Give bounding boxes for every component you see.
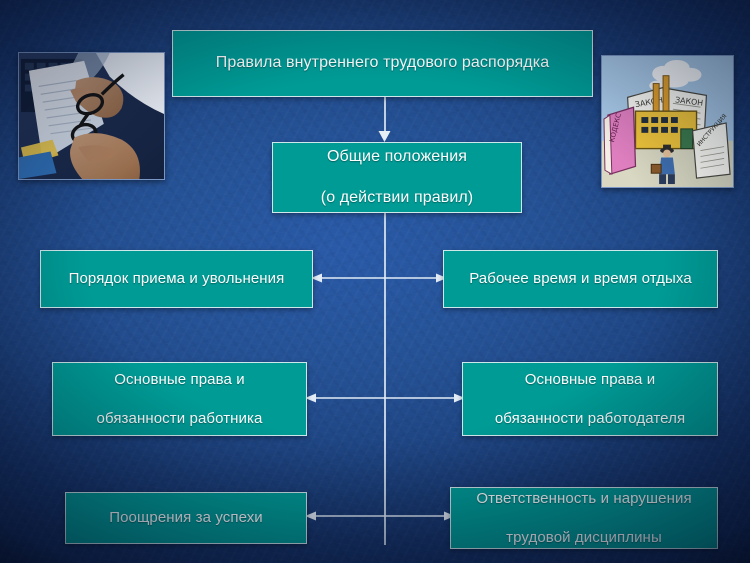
node-liability-line1: Ответственность и нарушения <box>468 489 699 508</box>
node-rewards[interactable]: Поощрения за успехи <box>65 492 307 544</box>
node-employer-rights-label: Основные права и обязанности работодател… <box>479 370 701 428</box>
node-hiring-dismissal[interactable]: Порядок приема и увольнения <box>40 250 313 308</box>
node-rewards-label: Поощрения за успехи <box>101 508 271 527</box>
node-working-rest-time-label: Рабочее время и время отдыха <box>461 269 700 288</box>
node-employer-rights[interactable]: Основные права и обязанности работодател… <box>462 362 718 436</box>
node-hiring-dismissal-label: Порядок приема и увольнения <box>61 269 293 288</box>
connector-rewards-liability <box>305 510 455 522</box>
slide-canvas: ЗАКОН ЗАКОН КОДЕКС <box>0 0 750 563</box>
node-general-provisions-label: Общие положения (о действии правил) <box>305 147 489 208</box>
node-liability-label: Ответственность и нарушения трудовой дис… <box>460 489 707 547</box>
connector-hiring-worktime <box>311 272 447 284</box>
node-liability[interactable]: Ответственность и нарушения трудовой дис… <box>450 487 718 549</box>
node-employee-rights[interactable]: Основные права и обязанности работника <box>52 362 307 436</box>
node-general-provisions-line2: (о действии правил) <box>313 188 481 208</box>
node-employer-rights-line1: Основные права и <box>487 370 693 389</box>
documents-photo <box>18 52 165 180</box>
node-employee-rights-line1: Основные права и <box>89 370 271 389</box>
node-general-provisions[interactable]: Общие положения (о действии правил) <box>272 142 522 213</box>
node-title[interactable]: Правила внутреннего трудового распорядка <box>172 30 593 97</box>
node-employee-rights-label: Основные права и обязанности работника <box>81 370 279 428</box>
law-cartoon-image: ЗАКОН ЗАКОН КОДЕКС <box>601 55 734 188</box>
node-employer-rights-line2: обязанности работодателя <box>487 409 693 428</box>
node-employee-rights-line2: обязанности работника <box>89 409 271 428</box>
node-title-label: Правила внутреннего трудового распорядка <box>208 53 557 73</box>
node-working-rest-time[interactable]: Рабочее время и время отдыха <box>443 250 718 308</box>
connector-vertical-spine <box>384 213 386 545</box>
node-liability-line2: трудовой дисциплины <box>468 528 699 547</box>
node-general-provisions-line1: Общие положения <box>313 147 481 167</box>
connector-employee-employer <box>305 392 465 404</box>
